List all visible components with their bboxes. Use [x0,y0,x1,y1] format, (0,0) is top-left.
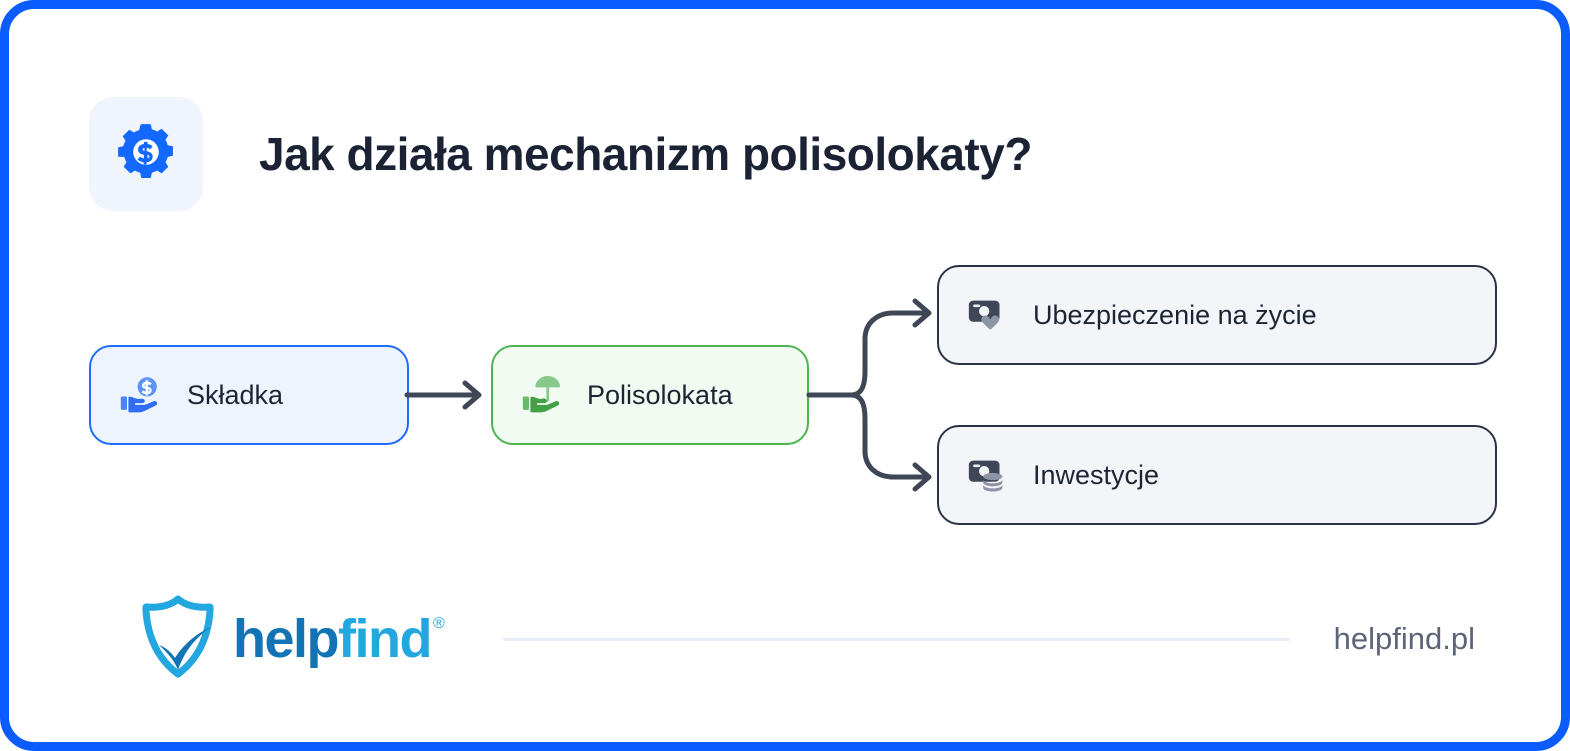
header: Jak działa mechanizm polisolokaty? [89,97,1032,211]
connector-skladka-to-polisolokata [405,369,497,421]
footer: help find ® helpfind.pl [89,584,1499,694]
flow-node-polisolokata[interactable]: Polisolokata [491,345,809,445]
flow-node-label: Składka [187,380,283,411]
infographic-card: Jak działa mechanizm polisolokaty? Skład… [0,0,1570,751]
helpfind-shield-check-icon [137,594,219,685]
wordmark-registered-mark: ® [433,616,443,632]
helpfind-wordmark: help find ® [233,612,443,666]
flow-node-skladka[interactable]: Składka [89,345,409,445]
page-title: Jak działa mechanizm polisolokaty? [259,127,1032,181]
footer-url: helpfind.pl [1334,621,1475,657]
flow-diagram: Składka Polisolokata [9,249,1570,549]
banknote-coins-icon [965,452,1011,498]
banknote-heart-icon [965,292,1011,338]
flow-node-inwestycje[interactable]: Inwestycje [937,425,1497,525]
flow-node-label: Ubezpieczenie na życie [1033,300,1317,331]
flow-node-ubezpieczenie-na-zycie[interactable]: Ubezpieczenie na życie [937,265,1497,365]
gear-dollar-icon [115,121,177,188]
hand-holding-coin-icon [117,372,163,418]
wordmark-help: help [233,612,338,666]
flow-node-label: Polisolokata [587,380,733,411]
connector-polisolokata-split [807,265,947,525]
hand-holding-umbrella-icon [519,372,565,418]
flow-node-label: Inwestycje [1033,460,1159,491]
helpfind-logo[interactable]: help find ® [137,594,443,685]
header-icon-container [89,97,203,211]
footer-divider [503,638,1289,641]
wordmark-find: find [338,612,431,666]
